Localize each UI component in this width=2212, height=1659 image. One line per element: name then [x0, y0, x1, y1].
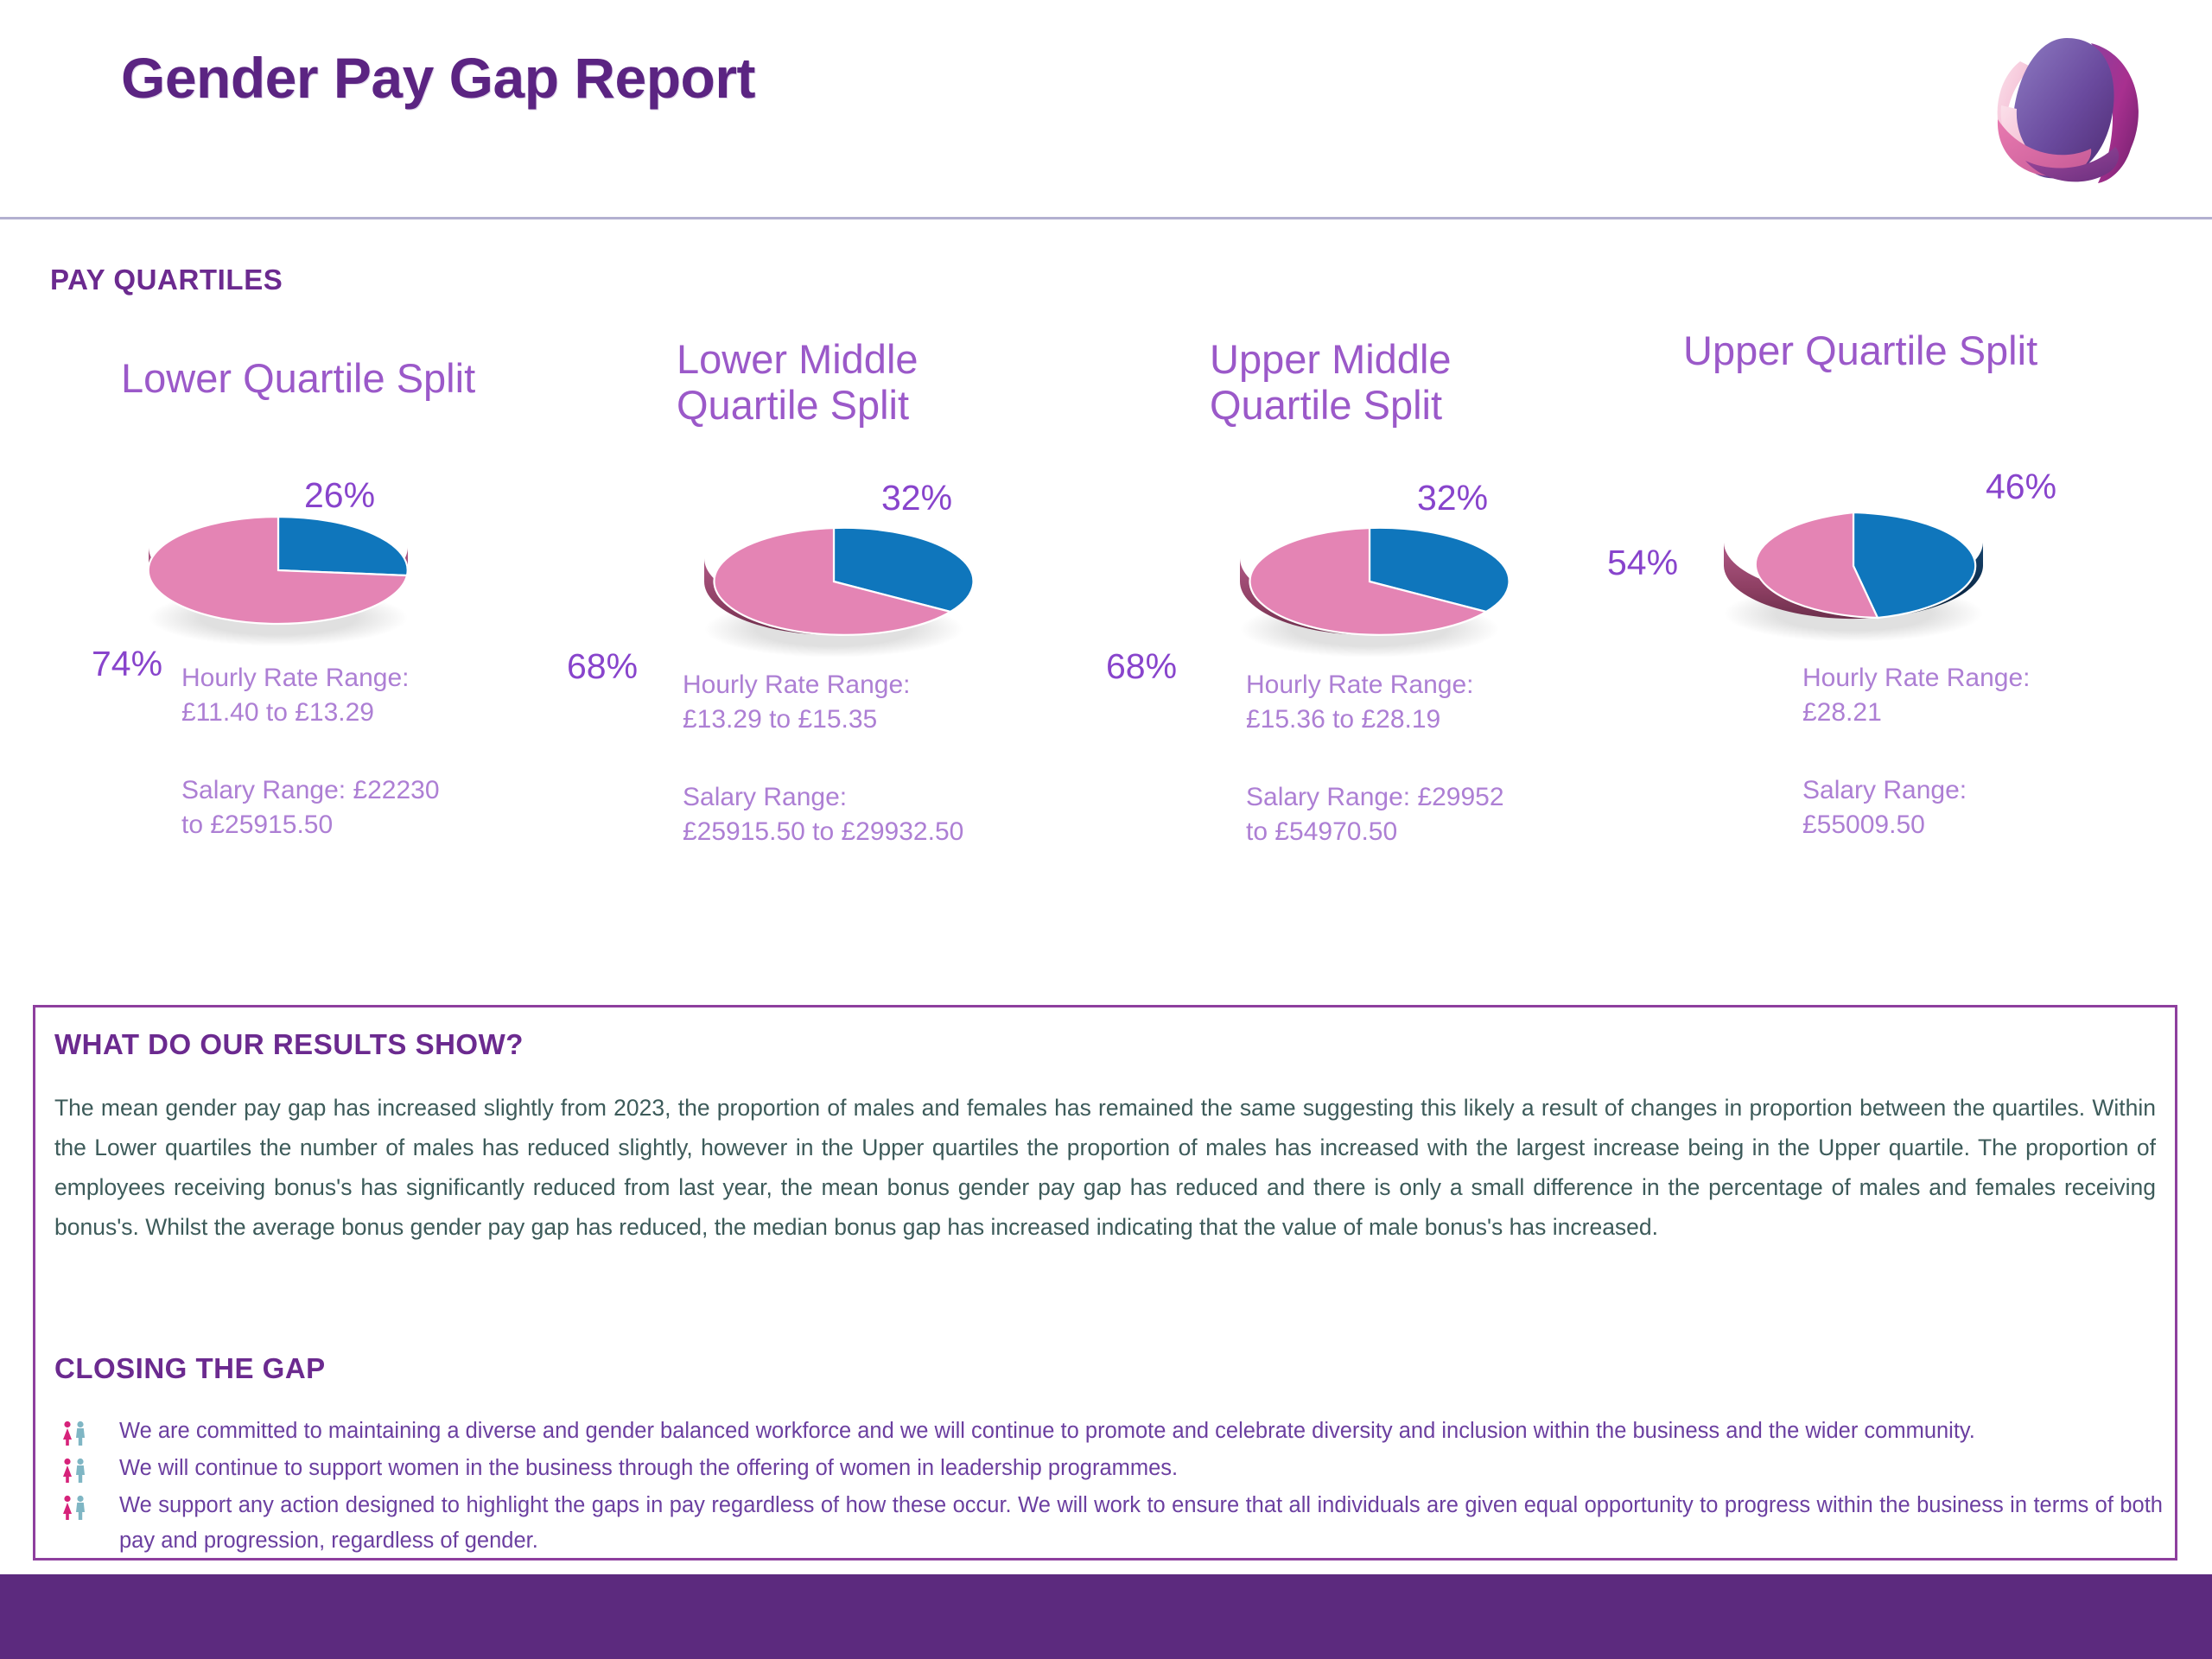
pie-label-female-3: 54% [1607, 543, 1678, 583]
pie-label-male-3: 46% [1986, 467, 2056, 507]
list-item: We support any action designed to highli… [54, 1488, 2163, 1560]
quartile-column-upper-middle: Upper Middle Quartile Split 32% 68% Hour… [1115, 337, 1668, 976]
salary-range-3: Salary Range: £55009.50 [1802, 773, 1967, 842]
pay-quartiles-section-label: PAY QUARTILES [50, 264, 283, 296]
pie-label-female-0: 74% [92, 644, 162, 684]
chart-title-upper-middle-quartile: Upper Middle Quartile Split [1210, 337, 1452, 428]
list-item-text: We support any action designed to highli… [119, 1493, 2163, 1554]
quartile-column-lower-middle: Lower Middle Quartile Split 32% 68% Hour… [596, 337, 1149, 976]
list-item: We are committed to maintaining a divers… [54, 1414, 2163, 1450]
quartile-column-lower: Lower Quartile Split 26% 74% [19, 337, 572, 976]
salary-range-0: Salary Range: £22230 to £25915.50 [181, 773, 440, 842]
chart-title-upper-quartile: Upper Quartile Split [1683, 328, 2037, 374]
pie-chart-lower-quartile [131, 480, 425, 652]
company-sphere-logo [1972, 22, 2158, 191]
pie-label-male-2: 32% [1417, 478, 1488, 518]
page-title: Gender Pay Gap Report [121, 45, 755, 111]
hourly-rate-range-2: Hourly Rate Range: £15.36 to £28.19 [1246, 668, 1473, 736]
hourly-rate-range-1: Hourly Rate Range: £13.29 to £15.35 [683, 668, 910, 736]
pie-chart-upper-quartile [1707, 475, 2000, 648]
results-panel: WHAT DO OUR RESULTS SHOW? The mean gende… [33, 1005, 2177, 1560]
list-item-text: We are committed to maintaining a divers… [119, 1419, 1975, 1443]
pie-label-male-1: 32% [881, 478, 952, 518]
footer-bar [0, 1574, 2212, 1659]
salary-range-1: Salary Range: £25915.50 to £29932.50 [683, 780, 963, 849]
male-female-pair-icon [60, 1421, 89, 1446]
page-header: Gender Pay Gap Report [0, 0, 2212, 219]
pie-label-female-1: 68% [567, 646, 638, 687]
pie-label-male-0: 26% [304, 475, 375, 516]
results-heading: WHAT DO OUR RESULTS SHOW? [54, 1028, 524, 1061]
quartile-column-upper: Upper Quartile Split [1659, 337, 2212, 976]
header-divider [0, 217, 2212, 219]
chart-title-lower-quartile: Lower Quartile Split [121, 356, 475, 402]
hourly-rate-range-3: Hourly Rate Range: £28.21 [1802, 661, 2030, 729]
hourly-rate-range-0: Hourly Rate Range: £11.40 to £13.29 [181, 661, 409, 729]
results-body-text: The mean gender pay gap has increased sl… [54, 1088, 2156, 1247]
closing-the-gap-heading: CLOSING THE GAP [54, 1352, 326, 1385]
male-female-pair-icon [60, 1495, 89, 1521]
chart-title-lower-middle-quartile: Lower Middle Quartile Split [677, 337, 918, 428]
closing-the-gap-list: We are committed to maintaining a divers… [54, 1414, 2163, 1560]
list-item: We will continue to support women in the… [54, 1451, 2163, 1487]
list-item-text: We will continue to support women in the… [119, 1456, 1178, 1480]
salary-range-2: Salary Range: £29952 to £54970.50 [1246, 780, 1504, 849]
pie-label-female-2: 68% [1106, 646, 1177, 687]
male-female-pair-icon [60, 1458, 89, 1484]
